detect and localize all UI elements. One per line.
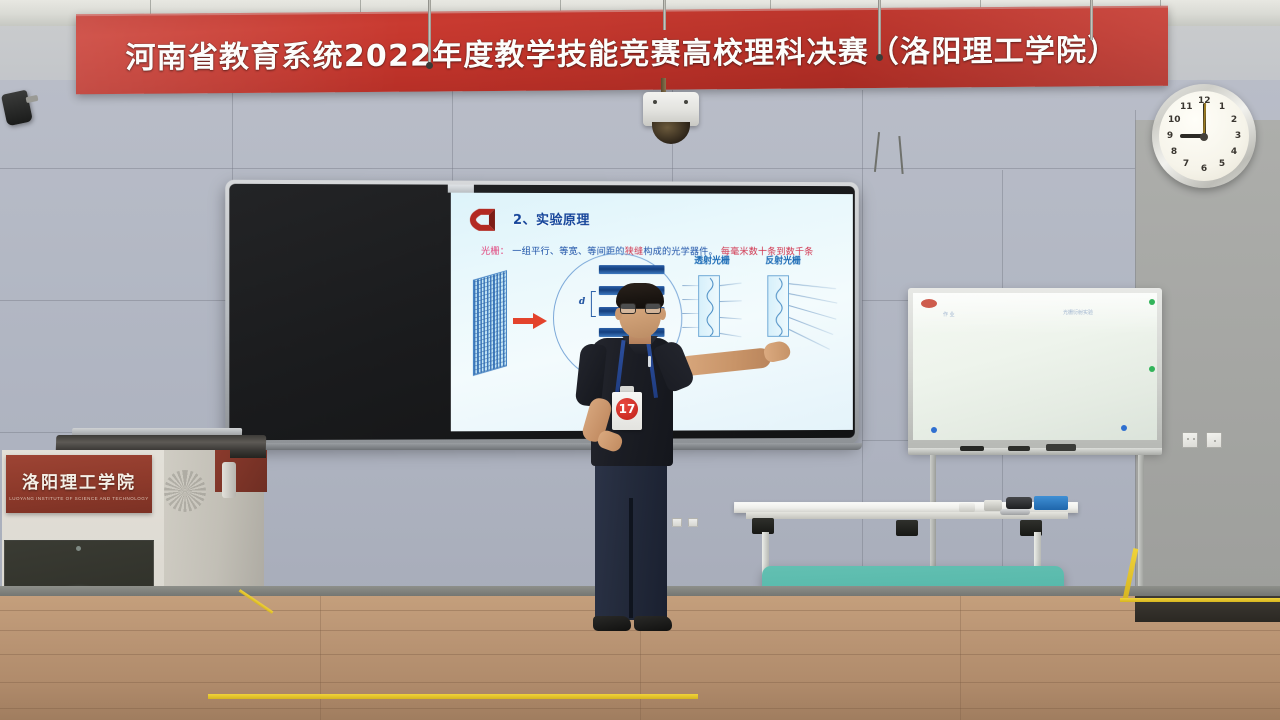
wall-outlet[interactable] bbox=[1206, 432, 1222, 448]
reflection-grating-plate bbox=[767, 275, 789, 337]
d-dimension-bracket bbox=[591, 291, 596, 317]
clock-face: 12 1 2 3 4 5 6 7 8 9 10 11 bbox=[1159, 91, 1249, 181]
ceiling-mic-tip bbox=[426, 62, 433, 69]
whiteboard-surface[interactable]: 作 业 光栅衍射实验 bbox=[913, 293, 1157, 440]
whiteboard-marker-tray bbox=[908, 448, 1162, 455]
reflected-ray bbox=[789, 305, 837, 320]
presenter-shoe-left bbox=[593, 616, 631, 631]
whiteboard-magnet[interactable] bbox=[931, 427, 937, 433]
slide-term: 光栅： bbox=[481, 246, 509, 257]
glasses-bridge bbox=[636, 308, 645, 309]
camera-led bbox=[653, 100, 657, 104]
presenter-shoe-right bbox=[634, 616, 672, 631]
grating-bar bbox=[599, 265, 665, 274]
incident-ray bbox=[682, 313, 698, 314]
badge-number: 17 bbox=[619, 403, 636, 415]
floor-marking-line bbox=[208, 694, 698, 699]
clock-second-hand bbox=[1203, 103, 1206, 136]
equipment-black-cylinder[interactable] bbox=[1006, 497, 1032, 509]
outlet-slot bbox=[1187, 438, 1189, 440]
slide-logo-icon bbox=[469, 207, 499, 233]
ceiling-mic-rod bbox=[428, 0, 431, 66]
clock-numeral: 7 bbox=[1180, 158, 1192, 170]
interactive-display[interactable]: 2、实验原理 光栅： 一组平行、等宽、等间距的狭缝构成的光学器件。 每毫米数十条… bbox=[225, 180, 859, 447]
grating-slab-figure bbox=[473, 270, 507, 376]
whiteboard-magnet[interactable] bbox=[1121, 425, 1127, 431]
equipment-blue-box[interactable] bbox=[1034, 496, 1068, 510]
ceiling-mic-rod bbox=[878, 0, 881, 58]
slide-window-chrome bbox=[448, 185, 474, 193]
podium-nameplate: 洛阳理工学院 LUOYANG INSTITUTE OF SCIENCE AND … bbox=[6, 455, 152, 513]
whiteboard-brand-logo bbox=[921, 299, 937, 308]
dome-camera bbox=[643, 92, 699, 126]
banner-text: 河南省教育系统2022年度教学技能竞赛高校理科决赛（洛阳理工学院） bbox=[125, 25, 1118, 77]
transmission-grating-plate bbox=[698, 275, 720, 337]
floor-seam bbox=[320, 596, 321, 720]
whiteboard-note-right: 光栅衍射实验 bbox=[1063, 309, 1093, 316]
wall-socket[interactable] bbox=[688, 518, 698, 527]
whiteboard-note-left: 作 业 bbox=[943, 311, 955, 318]
whiteboard-marker[interactable] bbox=[1008, 446, 1030, 451]
ceiling-mic-tip bbox=[876, 54, 883, 61]
podium-speaker-grill bbox=[164, 470, 206, 512]
clock-numeral: 3 bbox=[1232, 130, 1244, 142]
clock-numeral: 10 bbox=[1168, 114, 1180, 126]
diffracted-ray bbox=[720, 333, 742, 337]
classroom-scene: 河南省教育系统2022年度教学技能竞赛高校理科决赛（洛阳理工学院） 12 1 2… bbox=[0, 0, 1280, 720]
presenter-pen bbox=[648, 356, 651, 367]
glasses-lens-left bbox=[620, 303, 636, 314]
whiteboard-eraser[interactable] bbox=[1046, 444, 1076, 451]
wall-socket[interactable] bbox=[672, 518, 682, 527]
clock-numeral: 4 bbox=[1228, 146, 1240, 158]
outlet-slot bbox=[1193, 438, 1195, 440]
display-bottom-bar bbox=[228, 443, 862, 450]
presenter-leg-split bbox=[629, 498, 633, 618]
whiteboard-magnet[interactable] bbox=[1149, 366, 1155, 372]
reflected-ray bbox=[789, 293, 837, 303]
clock-numeral: 6 bbox=[1198, 163, 1210, 175]
equipment-white-box[interactable] bbox=[959, 503, 975, 512]
slide-title: 2、实验原理 bbox=[513, 209, 590, 228]
reflected-ray bbox=[789, 329, 830, 350]
whiteboard-marker[interactable] bbox=[960, 446, 984, 451]
outlet-slot bbox=[1214, 440, 1216, 442]
wall-seam bbox=[0, 300, 232, 301]
wall-seam bbox=[0, 168, 1135, 169]
camera-led bbox=[684, 100, 688, 104]
ceiling-mic-rod bbox=[1090, 0, 1093, 40]
clock-numeral: 2 bbox=[1228, 114, 1240, 126]
clock-numeral: 11 bbox=[1180, 101, 1192, 113]
floor-seam bbox=[960, 596, 961, 720]
clock-numeral: 9 bbox=[1164, 130, 1176, 142]
wall-outlet[interactable] bbox=[1182, 432, 1198, 448]
ceiling-mic-rod bbox=[663, 0, 666, 30]
diffracted-ray bbox=[720, 317, 742, 320]
badge-number-circle: 17 bbox=[616, 398, 638, 420]
clock-center-pin bbox=[1200, 133, 1208, 141]
event-banner: 河南省教育系统2022年度教学技能竞赛高校理科决赛（洛阳理工学院） bbox=[76, 6, 1168, 95]
podium-name-english: LUOYANG INSTITUTE OF SCIENCE AND TECHNOL… bbox=[9, 496, 149, 501]
incident-ray bbox=[682, 327, 698, 328]
wall-seam bbox=[862, 90, 863, 596]
clock-numeral: 5 bbox=[1216, 158, 1228, 170]
clock-numeral: 8 bbox=[1168, 146, 1180, 158]
whiteboard[interactable]: 作 业 光栅衍射实验 bbox=[908, 288, 1162, 451]
incident-ray bbox=[682, 299, 698, 300]
glasses-lens-right bbox=[645, 303, 661, 314]
diffracted-ray bbox=[720, 283, 742, 287]
reflected-ray bbox=[789, 283, 836, 289]
d-dimension-label: d bbox=[579, 297, 585, 307]
display-screen[interactable]: 2、实验原理 光栅： 一组平行、等宽、等间距的狭缝构成的光学器件。 每毫米数十条… bbox=[229, 184, 855, 440]
reflection-grating-label: 反射光栅 bbox=[765, 253, 800, 266]
podium-equipment-stack bbox=[230, 450, 266, 458]
red-arrow-icon bbox=[513, 313, 547, 329]
whiteboard-magnet[interactable] bbox=[1149, 299, 1155, 305]
equipment-white-block[interactable] bbox=[984, 500, 1002, 511]
wall-clock: 12 1 2 3 4 5 6 7 8 9 10 11 bbox=[1152, 84, 1256, 188]
presenter-glasses bbox=[620, 303, 661, 314]
clock-numeral: 1 bbox=[1216, 101, 1228, 113]
podium-name-chinese: 洛阳理工学院 bbox=[22, 468, 136, 493]
table-bracket bbox=[896, 520, 918, 536]
podium-led-indicator bbox=[76, 546, 81, 551]
floor-marking-line bbox=[1120, 598, 1280, 602]
podium-handle[interactable] bbox=[222, 462, 236, 498]
incident-ray bbox=[682, 285, 698, 286]
equipment-silver-base[interactable] bbox=[1000, 509, 1030, 515]
diffracted-ray bbox=[720, 300, 742, 302]
wall-seam bbox=[452, 90, 453, 182]
transmission-grating-label: 透射光栅 bbox=[694, 253, 730, 266]
